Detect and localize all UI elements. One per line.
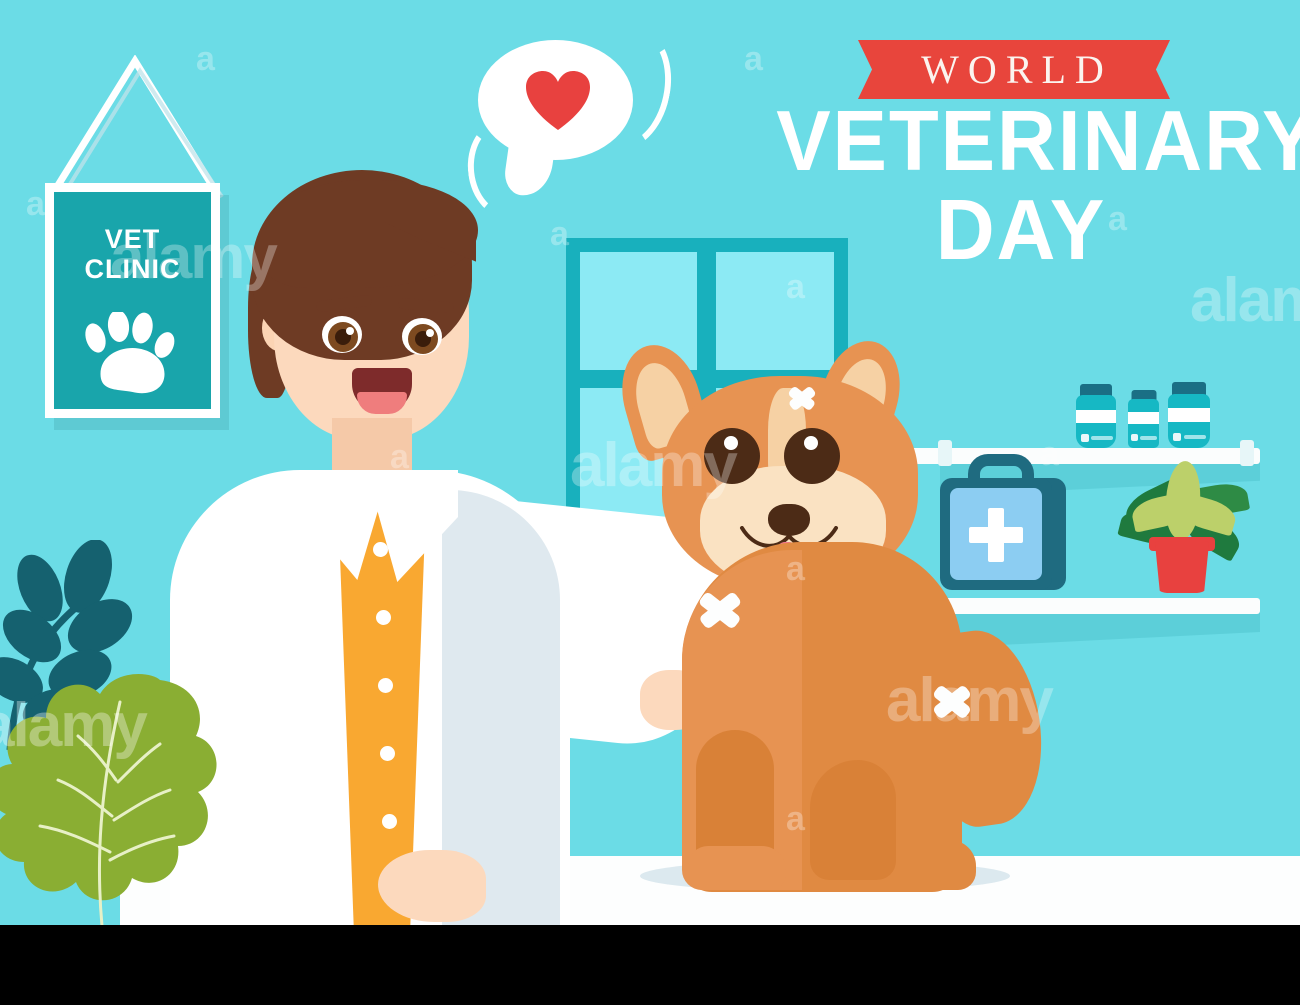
- page-title-line1: VETERINARY: [776, 103, 1266, 181]
- footer-bar: alamy Image ID: 2MNR1A7 www.alamy.com: [0, 925, 1300, 1005]
- bottle-label: [1076, 410, 1116, 423]
- plaster-head: [786, 382, 818, 414]
- dog-paw-front: [688, 846, 786, 890]
- dog-patient: [600, 330, 1070, 890]
- dog-hind-leg: [810, 760, 896, 880]
- medicine-bottle-left: [1076, 384, 1116, 448]
- eye-glint-left: [346, 327, 354, 335]
- bottle-line: [1140, 436, 1157, 440]
- poster-canvas: VET CLINIC WORLD VETERINARY DAY: [0, 0, 1300, 1005]
- dog-nose: [768, 504, 810, 536]
- eye-glint-right: [426, 329, 434, 337]
- bottle-label: [1128, 412, 1159, 424]
- dog-eye-glint-right: [804, 436, 818, 450]
- ribbon-label: WORLD: [858, 40, 1170, 99]
- world-ribbon: WORLD: [858, 40, 1170, 99]
- shirt-button: [376, 610, 391, 625]
- bottle-tag: [1173, 433, 1181, 441]
- shirt-button: [380, 746, 395, 761]
- bottle-line: [1091, 436, 1113, 440]
- shirt-button: [382, 814, 397, 829]
- plaster-shoulder: [696, 586, 744, 634]
- bottle-tag: [1131, 434, 1138, 441]
- medicine-bottle-right: [1168, 382, 1210, 448]
- bottle-tag: [1081, 434, 1089, 442]
- shirt-button: [373, 542, 388, 557]
- medicine-bottle-middle: [1128, 390, 1159, 448]
- heart-icon: [524, 70, 592, 132]
- oak-leaf-plant: [0, 640, 250, 930]
- speech-bubble: [478, 40, 643, 190]
- plaster-hip: [930, 680, 974, 724]
- plant-pot: [1153, 541, 1211, 593]
- bottle-line: [1184, 435, 1206, 439]
- dog-eye-glint-left: [724, 436, 738, 450]
- bottle-label: [1168, 408, 1210, 422]
- potted-plant: [1120, 455, 1245, 595]
- hand-lower: [378, 850, 486, 922]
- page-title-line2: DAY: [776, 190, 1266, 272]
- shirt-button: [378, 678, 393, 693]
